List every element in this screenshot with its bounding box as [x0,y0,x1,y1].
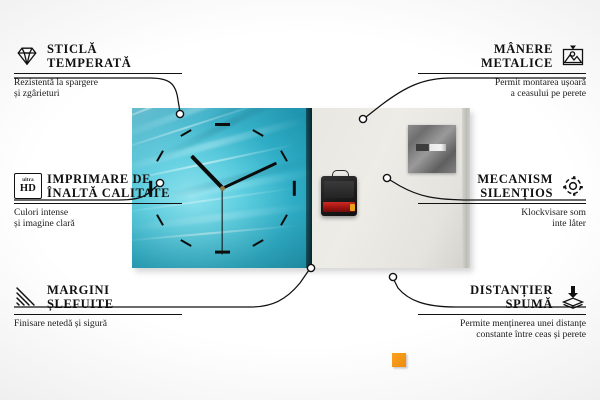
clock-tick [280,150,288,161]
ultra-hd-icon: ultra HD [14,173,40,199]
hanger-slot [416,144,446,151]
clock-tick [180,240,191,248]
feature-title: IMPRIMARE DE ÎNALTĂ CALITATE [47,172,170,200]
feature-divider [14,73,182,74]
feature-title: MÂNERE METALICE [481,42,553,70]
ultra-hd-main-text: HD [20,184,36,195]
aa-battery [323,202,355,212]
feature-divider [418,73,586,74]
quartz-clock-mechanism [321,176,357,216]
feature-description: Rezistentă la spargere și zgârieturi [14,77,182,100]
feature-title: MECANISM SILENȚIOS [477,172,553,200]
feature-title: MARGINI ȘLEFUITE [47,283,114,311]
feature-title: STICLĂ TEMPERATĂ [47,42,131,70]
feature-description: Permit montarea ușoară a ceasului pe per… [418,77,586,100]
clock-tick [252,129,263,137]
feature-silent-mechanism: MECANISM SILENȚIOS Klockvisare som inte … [418,172,586,230]
feature-description: Permite menținerea unei distanțe constan… [418,318,586,341]
clock-tick [156,150,164,161]
infographic-canvas: STICLĂ TEMPERATĂ Rezistentă la spargere … [0,0,600,400]
clock-tick [252,240,263,248]
clock-glass-edge [306,108,312,268]
clock-hour-hand [190,155,223,189]
battery-positive-tip [350,204,355,211]
clock-tick [215,123,230,126]
feature-polished-edges: MARGINI ȘLEFUITE Finisare netedă și sigu… [14,283,182,329]
clock-tick [293,181,296,196]
gear-icon [560,173,586,199]
clock-tick [180,129,191,137]
mechanism-housing-face [324,181,354,198]
clock-hand-hub [220,186,225,191]
metal-hanger-plate [408,125,456,173]
hatch-lines-icon [14,284,40,310]
diamond-icon [14,43,40,69]
feature-description: Klockvisare som inte låter [418,207,586,230]
foam-spacer-pad [392,353,406,367]
foam-spacer-icon [560,284,586,310]
feature-divider [418,314,586,315]
connector-node-spacer [389,273,396,280]
feature-metal-handles: MÂNERE METALICE Permit montarea ușoară a… [418,42,586,100]
picture-hanger-icon [560,43,586,69]
clock-tick [280,214,288,225]
feature-tempered-glass: STICLĂ TEMPERATĂ Rezistentă la spargere … [14,42,182,100]
feature-divider [14,203,182,204]
feature-divider [14,314,182,315]
feature-divider [418,203,586,204]
feature-description: Finisare netedă și sigură [14,318,182,329]
mechanism-hanging-loop [332,170,349,180]
feature-foam-spacer: DISTANȚIER SPUMĂ Permite menținerea unei… [418,283,586,341]
feature-description: Culori intense și imagine clară [14,207,182,230]
clock-minute-hand [221,162,276,190]
feature-high-quality-print: ultra HD IMPRIMARE DE ÎNALTĂ CALITATE Cu… [14,172,182,230]
clock-second-hand [221,188,222,254]
feature-title: DISTANȚIER SPUMĂ [470,283,553,311]
